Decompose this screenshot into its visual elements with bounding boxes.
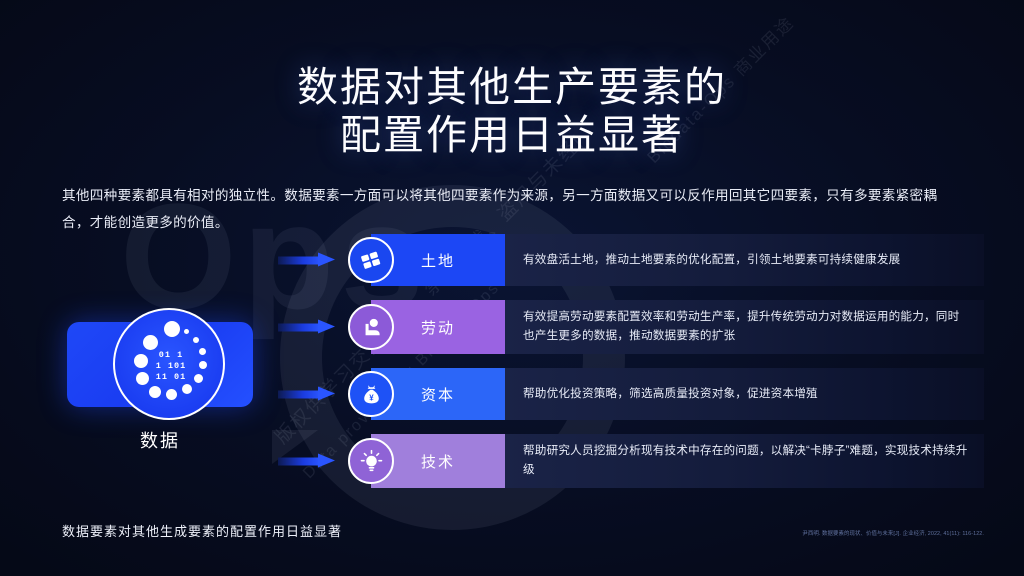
factor-label-labor: 劳动 (421, 317, 455, 338)
data-hub-circle: 01 1 1 101 11 01 (113, 308, 225, 420)
factor-label-capital: 资本 (421, 384, 455, 405)
data-hub-label: 数据 (67, 427, 253, 453)
lightbulb-icon (348, 438, 394, 484)
svg-text:¥: ¥ (369, 393, 374, 402)
factor-desc-land: 有效盘活土地，推动土地要素的优化配置，引领土地要素可持续健康发展 (505, 234, 984, 286)
binary-line-3: 11 01 (115, 372, 227, 383)
source-citation: 尹西明. 数据要素的现状、价值与未来[J]. 企业经济, 2022, 41(11… (802, 529, 984, 537)
page-title: 数据对其他生产要素的 配置作用日益显著 (0, 64, 1024, 160)
land-plot-icon (348, 237, 394, 283)
factor-row-labor[interactable]: 劳动 有效提高劳动要素配置效率和劳动生产率，提升传统劳动力对数据运用的能力，同时… (278, 300, 984, 354)
intro-paragraph: 其他四种要素都具有相对的独立性。数据要素一方面可以将其他四要素作为来源，另一方面… (62, 183, 962, 236)
factor-desc-capital: 帮助优化投资策略，筛选高质量投资对象，促进资本增殖 (505, 368, 984, 420)
factor-desc-labor: 有效提高劳动要素配置效率和劳动生产率，提升传统劳动力对数据运用的能力，同时也产生… (505, 300, 984, 354)
factor-row-technology[interactable]: 技术 帮助研究人员挖掘分析现有技术中存在的问题，以解决“卡脖子”难题，实现技术持… (278, 434, 984, 488)
page-title-line-1: 数据对其他生产要素的 (0, 64, 1024, 112)
worker-person-icon (348, 304, 394, 350)
binary-line-2: 1 101 (115, 361, 227, 372)
factor-rows: 土地 有效盘活土地，推动土地要素的优化配置，引领土地要素可持续健康发展 劳动 有… (278, 234, 984, 502)
figure-caption: 数据要素对其他生成要素的配置作用日益显著 (62, 521, 342, 540)
factor-label-land: 土地 (421, 250, 455, 271)
arrow-right-icon-capital (278, 387, 336, 402)
slide-canvas: Ops 版权供学习交流使用，禁止转载、盗用与未经[ Data provided … (0, 0, 1024, 576)
factor-desc-technology: 帮助研究人员挖掘分析现有技术中存在的问题，以解决“卡脖子”难题，实现技术持续升级 (505, 434, 984, 488)
factor-row-capital[interactable]: ¥ 资本 帮助优化投资策略，筛选高质量投资对象，促进资本增殖 (278, 368, 984, 420)
money-bag-icon: ¥ (348, 371, 394, 417)
binary-line-1: 01 1 (115, 350, 227, 361)
arrow-right-icon-labor (278, 320, 336, 335)
data-hub: 01 1 1 101 11 01 数据 (67, 322, 253, 407)
arrow-right-icon-land (278, 253, 336, 268)
arrow-right-icon-technology (278, 454, 336, 469)
data-binary-readout: 01 1 1 101 11 01 (115, 350, 227, 384)
factor-label-technology: 技术 (421, 451, 455, 472)
factor-row-land[interactable]: 土地 有效盘活土地，推动土地要素的优化配置，引领土地要素可持续健康发展 (278, 234, 984, 286)
page-title-line-2: 配置作用日益显著 (0, 112, 1024, 160)
